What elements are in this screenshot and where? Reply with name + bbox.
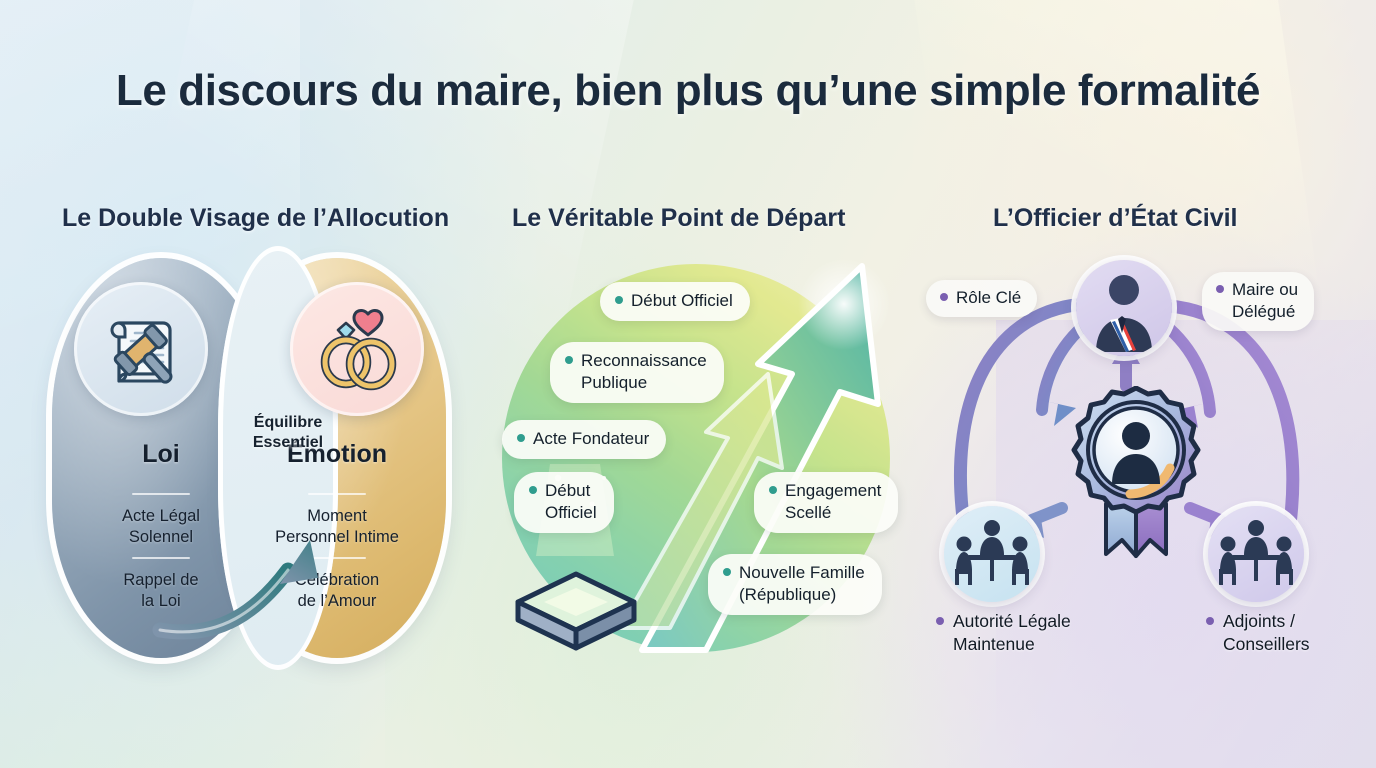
capsule-emotion-content: Émotion Moment Personnel Intime Célébrat… <box>228 258 446 658</box>
gavel-scroll-icon <box>74 282 208 416</box>
pill-maire-ou-delegue: Maire ouDélégué <box>1202 272 1314 331</box>
award-badge-person-icon <box>1052 386 1220 569</box>
wedding-rings-heart-icon <box>290 282 424 416</box>
center-badge-equilibre: Équilibre Essentiel <box>228 413 348 453</box>
pill-reconnaissance-publique: ReconnaissancePublique <box>550 342 724 403</box>
pill-label-group: ReconnaissancePublique <box>581 350 707 394</box>
list-item-line: Acte Légal <box>122 507 200 525</box>
bullet-dot-icon <box>1216 285 1224 293</box>
pill-debut-officiel-lower: DébutOfficiel <box>514 472 614 533</box>
pill-label: Officiel <box>545 503 597 522</box>
meeting-table-people-icon <box>944 506 1040 602</box>
pill-label: Engagement <box>785 481 881 500</box>
bullet-dot-icon <box>936 617 944 625</box>
pill-label: Scellé <box>785 503 831 522</box>
pill-label-group: Nouvelle Famille(République) <box>739 562 865 606</box>
pill-label-group: Maire ouDélégué <box>1232 279 1298 323</box>
label-line: Conseillers <box>1223 633 1310 656</box>
pill-label: Rôle Clé <box>956 288 1021 307</box>
pill-label-group: EngagementScellé <box>785 480 881 524</box>
pill-label: Début Officiel <box>631 290 733 312</box>
section-heading-double-visage: Le Double Visage de l’Allocution <box>62 204 449 233</box>
section-heading-officier-etat-civil: L’Officier d’État Civil <box>993 204 1238 233</box>
list-item-line: Rappel de <box>123 571 198 589</box>
section-heading-point-de-depart: Le Véritable Point de Départ <box>512 204 845 233</box>
label-adjoints-conseillers: Adjoints / Conseillers <box>1206 610 1310 656</box>
meeting-table-people-icon <box>1208 506 1304 602</box>
bullet-dot-icon <box>1206 617 1214 625</box>
pill-label: Publique <box>581 373 647 392</box>
pill-debut-officiel-top: Début Officiel <box>600 282 750 321</box>
list-item: Célébration de l’Amour <box>228 559 446 612</box>
page-title: Le discours du maire, bien plus qu’une s… <box>0 66 1376 116</box>
panel-double-visage: Loi Acte Légal Solennel Rappel de la Loi <box>52 258 492 658</box>
center-badge-line: Équilibre <box>254 414 322 431</box>
pill-label: Délégué <box>1232 302 1295 321</box>
list-item: Moment Personnel Intime <box>228 495 446 548</box>
panel-officier-etat-civil: Rôle Clé Maire ouDélégué Autorité Légale… <box>912 258 1362 670</box>
list-item-line: Personnel Intime <box>275 528 399 546</box>
pill-label: Nouvelle Famille <box>739 563 865 582</box>
pill-role-cle: Rôle Clé <box>926 280 1037 317</box>
capsule-emotion-list: Moment Personnel Intime Célébration de l… <box>228 484 446 612</box>
pill-label: Début <box>545 481 590 500</box>
list-item-line: de l’Amour <box>298 592 377 610</box>
bullet-dot-icon <box>940 293 948 301</box>
pill-label: Reconnaissance <box>581 351 707 370</box>
bullet-dot-icon <box>529 486 537 494</box>
label-autorite-legale-maintenue: Autorité Légale Maintenue <box>936 610 1071 656</box>
pill-label-group: DébutOfficiel <box>545 480 597 524</box>
bullet-dot-icon <box>723 568 731 576</box>
pill-label: Maire ou <box>1232 280 1298 299</box>
label-line: Adjoints / <box>1223 611 1295 631</box>
bullet-dot-icon <box>517 434 525 442</box>
pill-label: Acte Fondateur <box>533 428 649 450</box>
label-line: Autorité Légale <box>953 611 1071 631</box>
infographic-canvas: Le discours du maire, bien plus qu’une s… <box>0 0 1376 768</box>
pill-label: (République) <box>739 585 836 604</box>
center-badge-line: Essentiel <box>253 434 323 451</box>
list-item-line: Célébration <box>295 571 379 589</box>
pill-acte-fondateur: Acte Fondateur <box>502 420 666 459</box>
bullet-dot-icon <box>565 356 573 364</box>
pill-engagement-scelle: EngagementScellé <box>754 472 898 533</box>
label-line: Maintenue <box>953 633 1071 656</box>
bullet-dot-icon <box>769 486 777 494</box>
list-item-line: Moment <box>307 507 367 525</box>
panel-point-de-depart: Début Officiel ReconnaissancePublique Ac… <box>492 256 932 660</box>
pill-nouvelle-famille: Nouvelle Famille(République) <box>708 554 882 615</box>
list-item-line: Solennel <box>129 528 193 546</box>
bullet-dot-icon <box>615 296 623 304</box>
mayor-sash-person-icon <box>1076 260 1172 356</box>
list-item-line: la Loi <box>141 592 180 610</box>
